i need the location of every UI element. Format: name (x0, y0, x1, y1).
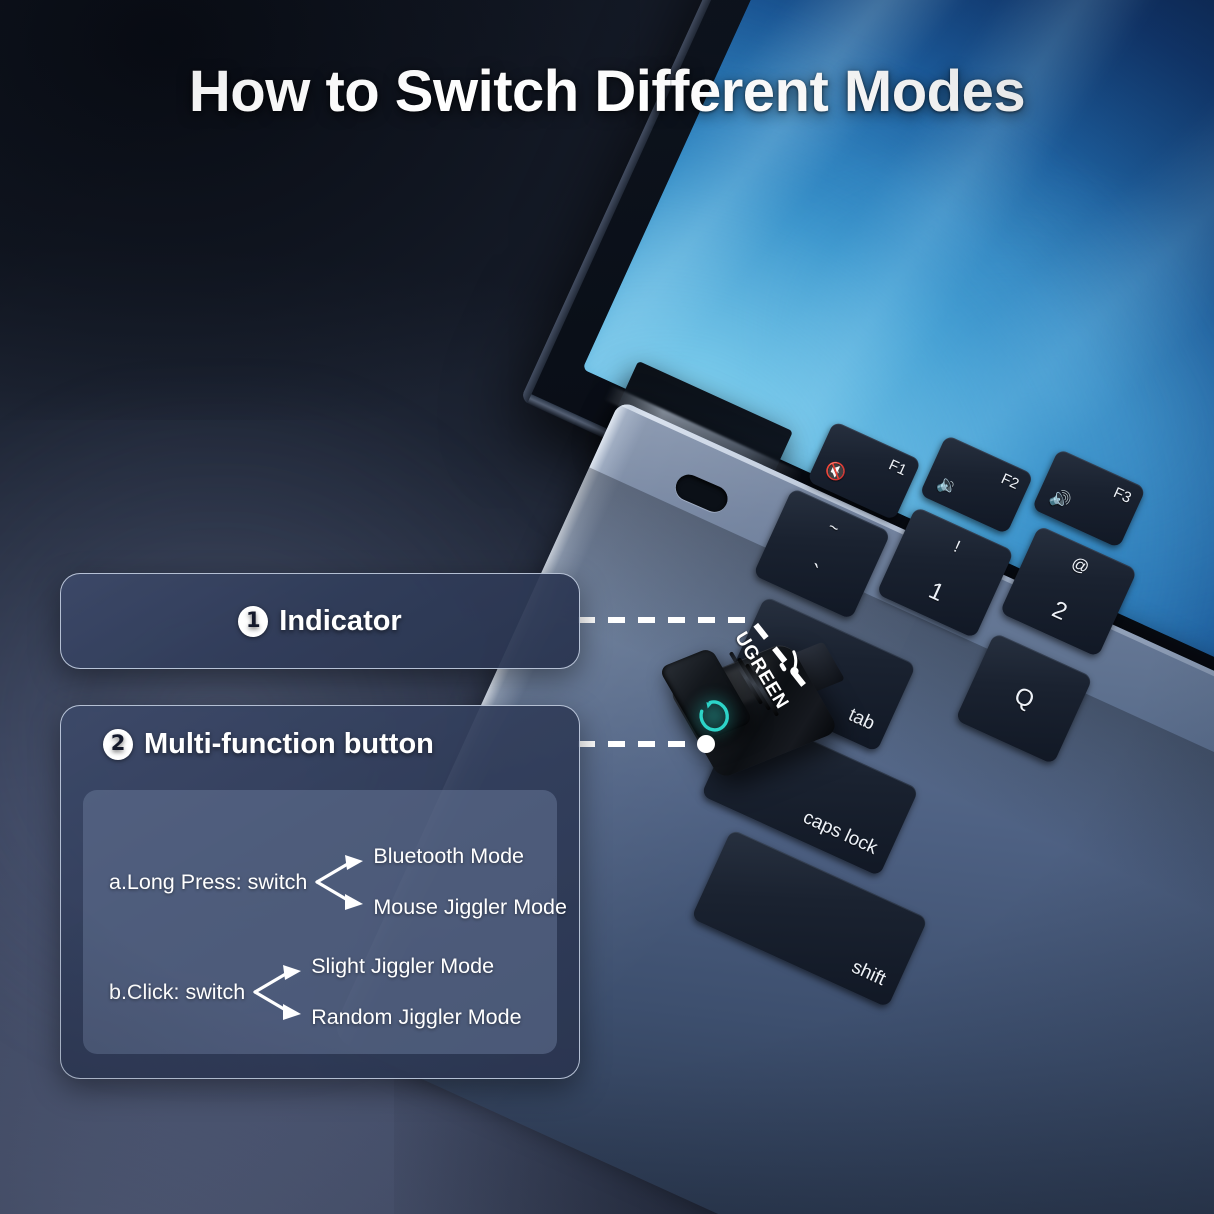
image-vignette (0, 0, 1214, 1214)
product-infographic: F1 🔇 F2 🔉 F3 🔊 ~ ` ! 1 @ 2 (0, 0, 1214, 1214)
